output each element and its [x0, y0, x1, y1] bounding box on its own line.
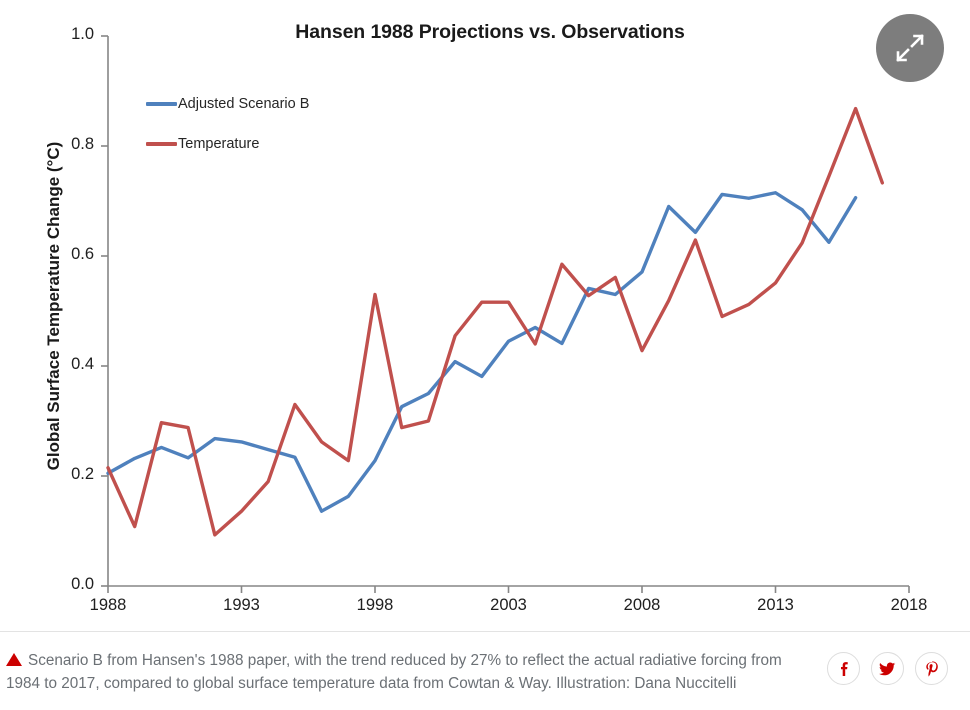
pinterest-icon	[923, 660, 941, 678]
chart-page: Hansen 1988 Projections vs. Observations…	[0, 0, 970, 710]
series-line-adjusted-scenario-b	[108, 193, 856, 511]
social-share-buttons	[827, 652, 948, 685]
caption-area: Scenario B from Hansen's 1988 paper, wit…	[0, 641, 970, 710]
facebook-icon	[835, 660, 853, 678]
legend-item[interactable]: Temperature	[146, 133, 309, 155]
caption: Scenario B from Hansen's 1988 paper, wit…	[6, 649, 806, 695]
legend-item[interactable]: Adjusted Scenario B	[146, 93, 309, 115]
legend-swatch-icon	[146, 102, 177, 106]
legend-item-label: Temperature	[178, 136, 259, 152]
expand-arrows-icon	[892, 30, 928, 66]
pinterest-share-button[interactable]	[915, 652, 948, 685]
facebook-share-button[interactable]	[827, 652, 860, 685]
twitter-icon	[878, 659, 897, 678]
twitter-share-button[interactable]	[871, 652, 904, 685]
caption-body: Scenario B from Hansen's 1988 paper, wit…	[6, 652, 782, 692]
caption-marker-icon	[6, 653, 22, 666]
expand-icon[interactable]	[876, 14, 944, 82]
legend-swatch-icon	[146, 142, 177, 146]
legend-item-label: Adjusted Scenario B	[178, 96, 309, 112]
chart-legend: Adjusted Scenario BTemperature	[146, 93, 309, 173]
chart-figure: Hansen 1988 Projections vs. Observations…	[0, 0, 970, 632]
